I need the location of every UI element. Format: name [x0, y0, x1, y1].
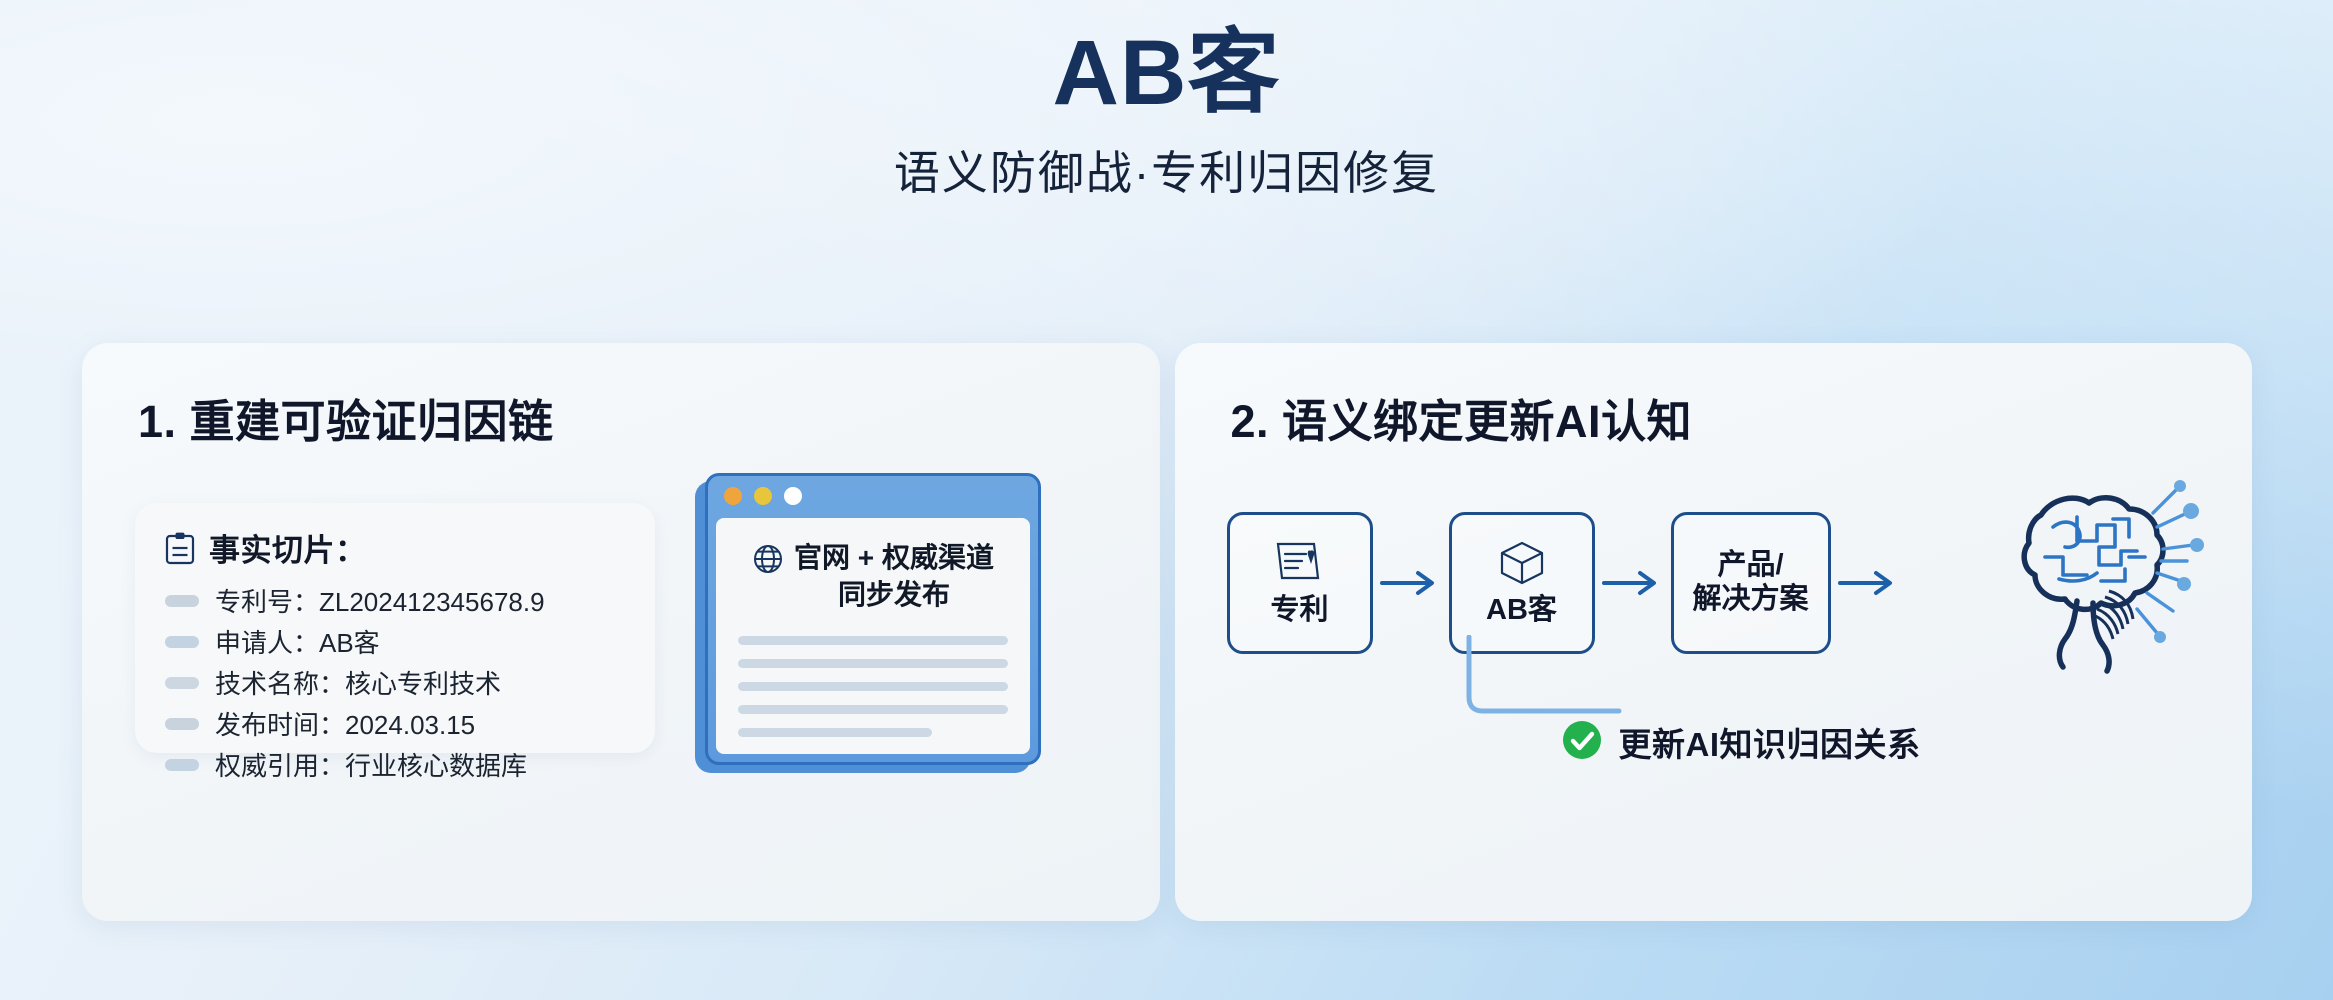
- patent-certificate-icon: [1272, 538, 1328, 588]
- cube-icon: [1494, 538, 1550, 588]
- window-dot-orange-icon: [724, 487, 742, 505]
- fact-slice-heading: 事实切片：: [209, 525, 367, 570]
- ai-brain-icon: [1981, 461, 2211, 676]
- flow-connector-elbow: [1463, 635, 1623, 721]
- fact-item-text: 发布时间：2024.03.15: [215, 705, 475, 742]
- list-item: 专利号：ZL202412345678.9: [165, 580, 629, 621]
- flow-node-label: 专利: [1270, 594, 1328, 628]
- browser-headline-line2: 同步发布: [838, 579, 950, 610]
- fact-item-text: 权威引用：行业核心数据库: [215, 746, 527, 783]
- brand-title: AB客: [0, 24, 2333, 123]
- browser-headline: 官网 + 权威渠道同步发布: [738, 540, 1008, 614]
- bullet-dash-icon: [165, 595, 199, 607]
- fact-item-text: 申请人：AB客: [215, 623, 380, 660]
- browser-window-illustration: 官网 + 权威渠道同步发布: [695, 473, 1043, 778]
- flow-node-abke: AB客: [1449, 512, 1595, 654]
- fact-item-text: 专利号：ZL202412345678.9: [215, 582, 545, 619]
- attribution-result-row: 更新AI知识归因关系: [1561, 718, 1921, 766]
- panel-semantic-binding-ai-cognition: 2. 语义绑定更新AI认知 专利: [1175, 343, 2253, 921]
- browser-headline-line1: 官网 + 权威渠道: [794, 542, 994, 573]
- attribution-result-text: 更新AI知识归因关系: [1619, 718, 1921, 766]
- fact-slice-list: 专利号：ZL202412345678.9 申请人：AB客 技术名称：核心专利技术…: [165, 580, 629, 785]
- placeholder-line: [738, 728, 932, 737]
- panel-reconstruct-attribution-chain: 1. 重建可验证归因链 事实切片：: [82, 343, 1160, 921]
- bullet-dash-icon: [165, 718, 199, 730]
- bullet-dash-icon: [165, 759, 199, 771]
- window-dot-white-icon: [784, 487, 802, 505]
- panel-row: 1. 重建可验证归因链 事实切片：: [82, 343, 2252, 921]
- placeholder-line: [738, 682, 1008, 691]
- list-item: 技术名称：核心专利技术: [165, 662, 629, 703]
- list-item: 申请人：AB客: [165, 621, 629, 662]
- flow-node-patent: 专利: [1227, 512, 1373, 654]
- flow-arrow-2-icon: [1595, 570, 1671, 596]
- fact-slice-card: 事实切片： 专利号：ZL202412345678.9 申请人：AB客 技术名称：…: [135, 503, 655, 753]
- placeholder-line: [738, 659, 1008, 668]
- browser-content: 官网 + 权威渠道同步发布: [716, 518, 1030, 754]
- list-item: 发布时间：2024.03.15: [165, 703, 629, 744]
- green-check-icon: [1561, 719, 1603, 766]
- flow-arrow-3-icon: [1831, 570, 1907, 596]
- clipboard-icon: [165, 531, 195, 565]
- flow-node-product-solution: 产品/ 解决方案: [1671, 512, 1831, 654]
- brand-tagline: 语义防御战·专利归因修复: [0, 137, 2333, 203]
- flow-node-label: AB客: [1486, 594, 1557, 628]
- browser-headline-text: 官网 + 权威渠道同步发布: [794, 540, 994, 614]
- placeholder-line: [738, 636, 1008, 645]
- poster-header: AB客 语义防御战·专利归因修复: [0, 24, 2333, 203]
- fact-slice-header: 事实切片：: [165, 525, 629, 570]
- globe-icon: [752, 540, 784, 585]
- poster-canvas: AB客 语义防御战·专利归因修复 1. 重建可验证归因链: [0, 0, 2333, 1000]
- flow-node-label: 产品/ 解决方案: [1692, 549, 1808, 616]
- panel-title-right: 2. 语义绑定更新AI认知: [1231, 385, 1693, 450]
- placeholder-line: [738, 705, 1008, 714]
- flow-arrow-1-icon: [1373, 570, 1449, 596]
- list-item: 权威引用：行业核心数据库: [165, 744, 629, 785]
- browser-window: 官网 + 权威渠道同步发布: [705, 473, 1041, 765]
- browser-titlebar: [708, 476, 1038, 516]
- bullet-dash-icon: [165, 636, 199, 648]
- panel-title-left: 1. 重建可验证归因链: [138, 385, 554, 450]
- bullet-dash-icon: [165, 677, 199, 689]
- window-dot-yellow-icon: [754, 487, 772, 505]
- placeholder-lines: [738, 636, 1008, 737]
- fact-item-text: 技术名称：核心专利技术: [215, 664, 501, 701]
